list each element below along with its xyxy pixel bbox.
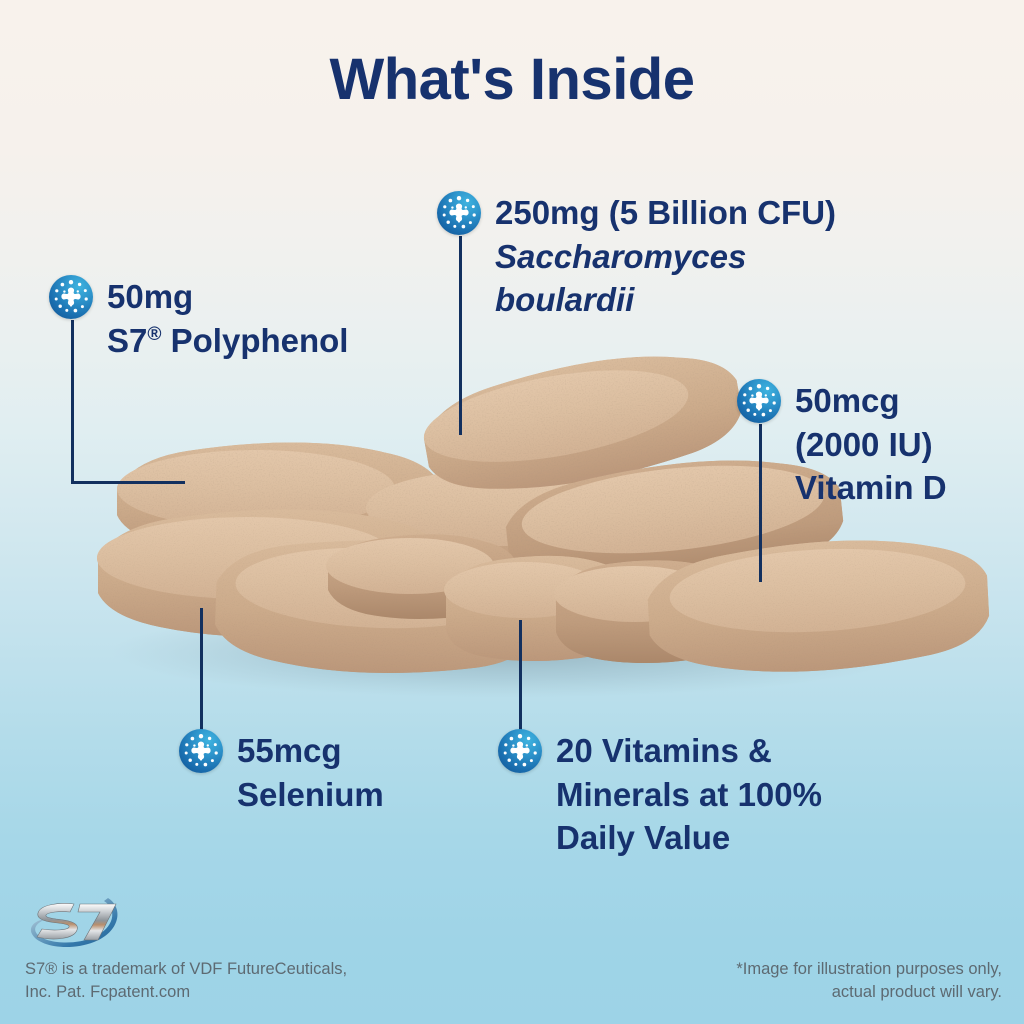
trademark-notice: S7® is a trademark of VDF FutureCeutical… (25, 958, 347, 1005)
probiotic-molecule-icon (179, 729, 223, 773)
callout-vitamins-minerals: 20 Vitamins & Minerals at 100% Daily Val… (498, 729, 822, 860)
callout-line-2-post: Polyphenol (161, 322, 348, 359)
product-tablet-pile (0, 0, 1024, 1024)
image-disclaimer: *Image for illustration purposes only, a… (736, 958, 1002, 1005)
callout-text-selenium: 55mcg Selenium (237, 729, 384, 816)
callout-text-saccharomyces-boulardii: 250mg (5 Billion CFU)Saccharomyces boula… (495, 191, 836, 322)
callout-saccharomyces-boulardii: 250mg (5 Billion CFU)Saccharomyces boula… (437, 191, 836, 322)
callout-species-name: Saccharomyces boulardii (495, 235, 836, 322)
callout-vitamin-d: 50mcg (2000 IU) Vitamin D (737, 379, 947, 510)
leader-line-selenium (200, 608, 203, 748)
registered-trademark-symbol: ® (147, 324, 161, 345)
callout-text-vitamins-minerals: 20 Vitamins & Minerals at 100% Daily Val… (556, 729, 822, 860)
infographic-canvas: What's Inside (0, 0, 1024, 1024)
page-title: What's Inside (0, 46, 1024, 113)
callout-selenium: 55mcg Selenium (179, 729, 384, 816)
callout-text-vitamin-d: 50mcg (2000 IU) Vitamin D (795, 379, 947, 510)
leader-line-s7-polyphenol-horizontal (71, 481, 185, 484)
callout-s7-polyphenol: 50mgS7® Polyphenol (49, 275, 348, 362)
probiotic-molecule-icon (49, 275, 93, 319)
probiotic-molecule-icon (737, 379, 781, 423)
callout-line-2-pre: S7 (107, 322, 147, 359)
callout-text-s7-polyphenol: 50mgS7® Polyphenol (107, 275, 348, 362)
s7-logo (24, 892, 132, 954)
probiotic-molecule-icon (498, 729, 542, 773)
callout-line-1: 250mg (5 Billion CFU) (495, 194, 836, 231)
probiotic-molecule-icon (437, 191, 481, 235)
callout-line-1: 50mg (107, 278, 193, 315)
